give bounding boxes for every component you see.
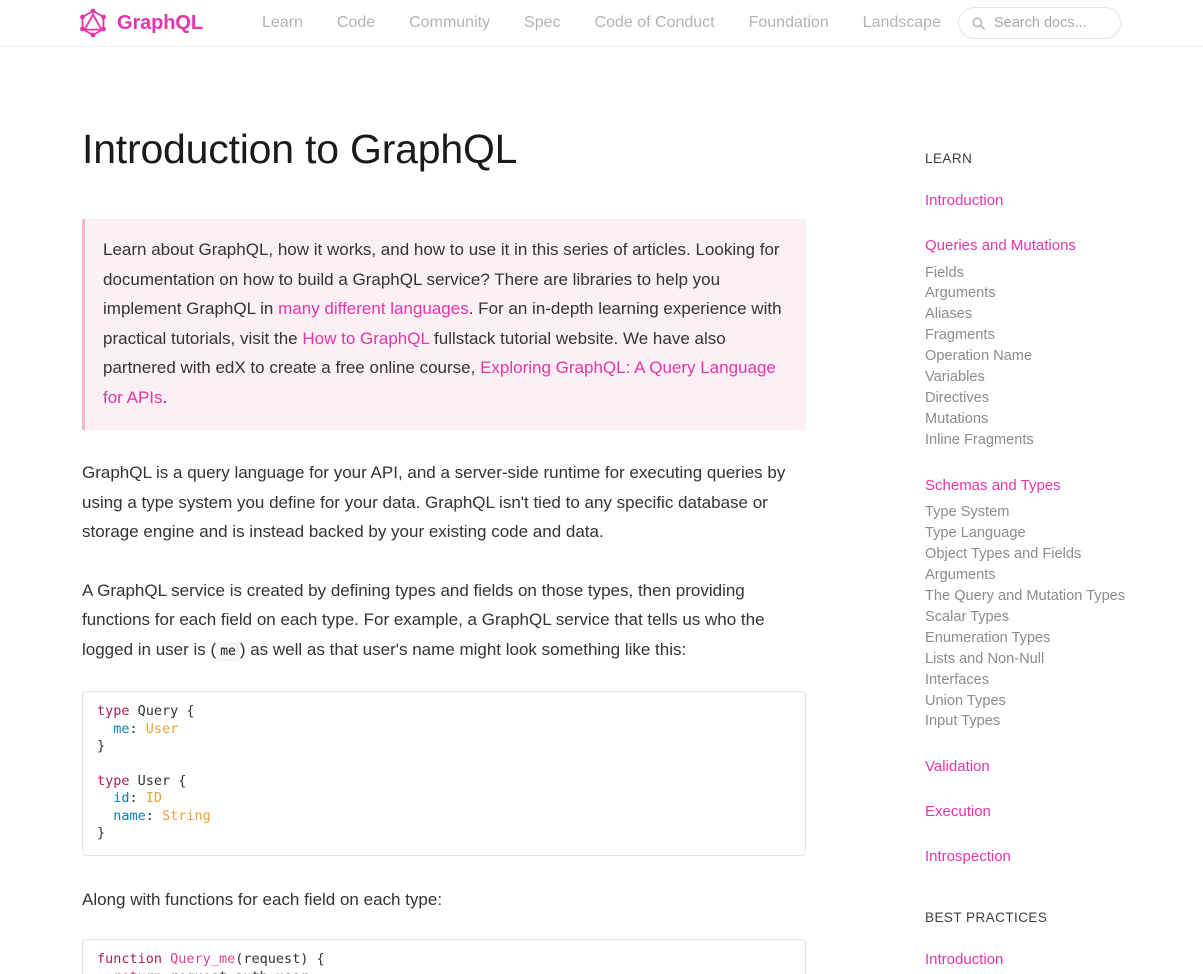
nav-item-learn[interactable]: Learn [245,15,320,31]
sidebar-subitem: Mutations [925,409,1203,430]
sidebar-subitem-enumeration-types[interactable]: Enumeration Types [925,628,1203,649]
code-token: function [97,951,162,967]
code-token: (request) { [235,951,324,967]
code-token: Query { [130,703,195,719]
sidebar-section-gap [925,867,1203,910]
nav-item-landscape[interactable]: Landscape [846,15,958,31]
page-title: Introduction to GraphQL [82,125,862,173]
sidebar-subitem: Lists and Non-Null [925,649,1203,670]
sidebar-heading-best-practices: BEST PRACTICES [925,910,1203,925]
code-block-schema: type Query { me: User } type User { id: … [82,691,806,855]
code-token: id [113,790,129,806]
code-token: ID [146,790,162,806]
sidebar-sublist: Type SystemType LanguageObject Types and… [925,502,1203,732]
sidebar-subitem: Interfaces [925,670,1203,691]
sidebar-item-introduction[interactable]: Introduction [925,192,1203,211]
link-how-to-graphql[interactable]: How to GraphQL [302,329,429,348]
sidebar-subitem: Arguments [925,283,1203,304]
sidebar-sublist: FieldsArgumentsAliasesFragmentsOperation… [925,263,1203,451]
sidebar-group: Introduction [925,192,1203,211]
sidebar-item-schemas-and-types[interactable]: Schemas and Types [925,477,1203,496]
code-token: return [113,969,162,974]
sidebar-subitem-mutations[interactable]: Mutations [925,409,1203,430]
sidebar-subitem: Fields [925,263,1203,284]
intro-callout: Learn about GraphQL, how it works, and h… [82,219,806,430]
sidebar-subitem-lists-and-non-null[interactable]: Lists and Non-Null [925,649,1203,670]
sidebar-subitem-arguments[interactable]: Arguments [925,565,1203,586]
sidebar-subitem: Fragments [925,325,1203,346]
graphql-logo-icon [78,8,108,38]
sidebar-subitem: Operation Name [925,346,1203,367]
link-many-different-languages[interactable]: many different languages [278,299,469,318]
sidebar-subitem: Variables [925,367,1203,388]
sidebar-subitem: Input Types [925,711,1203,732]
sidebar-subitem: Enumeration Types [925,628,1203,649]
sidebar-subitem: Aliases [925,304,1203,325]
sidebar-subitem: Union Types [925,691,1203,712]
sidebar-subitem-arguments[interactable]: Arguments [925,283,1203,304]
sidebar-subitem-aliases[interactable]: Aliases [925,304,1203,325]
sidebar-heading-learn: LEARN [925,151,1203,166]
paragraph-service-definition: A GraphQL service is created by defining… [82,576,806,667]
sidebar-subitem-variables[interactable]: Variables [925,367,1203,388]
sidebar-subitem: Object Types and Fields [925,544,1203,565]
code-token [97,969,113,974]
nav-item-code[interactable]: Code [320,15,392,31]
callout-text-4: . [163,388,168,407]
sidebar-group: Introspection [925,848,1203,867]
sidebar-subitem: Type Language [925,523,1203,544]
sidebar-subitem: Inline Fragments [925,430,1203,451]
sidebar-group: Execution [925,803,1203,822]
sidebar-subitem-inline-fragments[interactable]: Inline Fragments [925,430,1203,451]
inline-code-me: me [216,642,240,661]
sidebar-subitem: Arguments [925,565,1203,586]
sidebar-item-validation[interactable]: Validation [925,758,1203,777]
code-block-schema-content: type Query { me: User } type User { id: … [97,703,791,842]
nav-item-code-of-conduct[interactable]: Code of Conduct [578,15,732,31]
sidebar-subitem-type-system[interactable]: Type System [925,502,1203,523]
paragraph-what-is-graphql: GraphQL is a query language for your API… [82,458,806,547]
sidebar-subitem: The Query and Mutation Types [925,586,1203,607]
code-token: : [130,790,146,806]
code-block-resolvers: function Query_me(request) { return requ… [82,939,806,974]
sidebar-subitem-scalar-types[interactable]: Scalar Types [925,607,1203,628]
code-block-resolvers-content: function Query_me(request) { return requ… [97,951,791,974]
sidebar-item-introspection[interactable]: Introspection [925,848,1203,867]
paragraph-along-with-functions: Along with functions for each field on e… [82,885,806,915]
code-token: name [113,808,146,824]
code-token: me [113,721,129,737]
sidebar-subitem-the-query-and-mutation-types[interactable]: The Query and Mutation Types [925,586,1203,607]
nav-item-spec[interactable]: Spec [507,15,577,31]
nav-item-community[interactable]: Community [392,15,507,31]
code-token: : [146,808,162,824]
sidebar-subitem-input-types[interactable]: Input Types [925,711,1203,732]
code-token: type [97,703,130,719]
sidebar-subitem: Directives [925,388,1203,409]
sidebar-group: Queries and MutationsFieldsArgumentsAlia… [925,237,1203,451]
code-token: User [146,721,179,737]
sidebar-sections: LEARNIntroductionQueries and MutationsFi… [925,151,1203,974]
sidebar-subitem-directives[interactable]: Directives [925,388,1203,409]
primary-nav: Learn Code Community Spec Code of Conduc… [245,15,958,31]
sidebar-subitem-object-types-and-fields[interactable]: Object Types and Fields [925,544,1203,565]
main-content: Introduction to GraphQL Learn about Grap… [0,47,862,974]
code-token: Query_me [170,951,235,967]
sidebar-subitem-interfaces[interactable]: Interfaces [925,670,1203,691]
code-token [162,951,170,967]
sidebar-group: Introduction [925,951,1203,970]
search-input[interactable] [994,15,1108,31]
sidebar-subitem-union-types[interactable]: Union Types [925,691,1203,712]
page-body: Introduction to GraphQL Learn about Grap… [0,47,1203,974]
paragraph-service-text-b: ) as well as that user's name might look… [240,640,686,659]
sidebar-subitem: Type System [925,502,1203,523]
sidebar-item-introduction[interactable]: Introduction [925,951,1203,970]
search-box[interactable] [958,7,1121,39]
code-token: String [162,808,211,824]
brand-name: GraphQL [117,13,203,33]
sidebar-subitem-fragments[interactable]: Fragments [925,325,1203,346]
sidebar-item-queries-and-mutations[interactable]: Queries and Mutations [925,237,1203,256]
code-token: User { [130,773,187,789]
sidebar-subitem-type-language[interactable]: Type Language [925,523,1203,544]
sidebar-subitem-operation-name[interactable]: Operation Name [925,346,1203,367]
nav-item-foundation[interactable]: Foundation [732,15,846,31]
code-token: } [97,738,105,754]
code-token [97,808,113,824]
code-token: type [97,773,130,789]
code-token [97,790,113,806]
docs-sidebar: LEARNIntroductionQueries and MutationsFi… [862,47,1203,974]
search-icon [971,16,986,31]
callout-paragraph: Learn about GraphQL, how it works, and h… [103,235,782,412]
sidebar-subitem: Scalar Types [925,607,1203,628]
code-token: } [97,825,105,841]
sidebar-subitem-fields[interactable]: Fields [925,263,1203,284]
code-token: request.auth.user; [162,969,316,974]
brand-home-link[interactable]: GraphQL [78,8,203,38]
site-header: GraphQL Learn Code Community Spec Code o… [0,0,1203,47]
sidebar-group: Validation [925,758,1203,777]
code-token: : [130,721,146,737]
sidebar-item-execution[interactable]: Execution [925,803,1203,822]
sidebar-group: Schemas and TypesType SystemType Languag… [925,477,1203,733]
code-token [97,721,113,737]
